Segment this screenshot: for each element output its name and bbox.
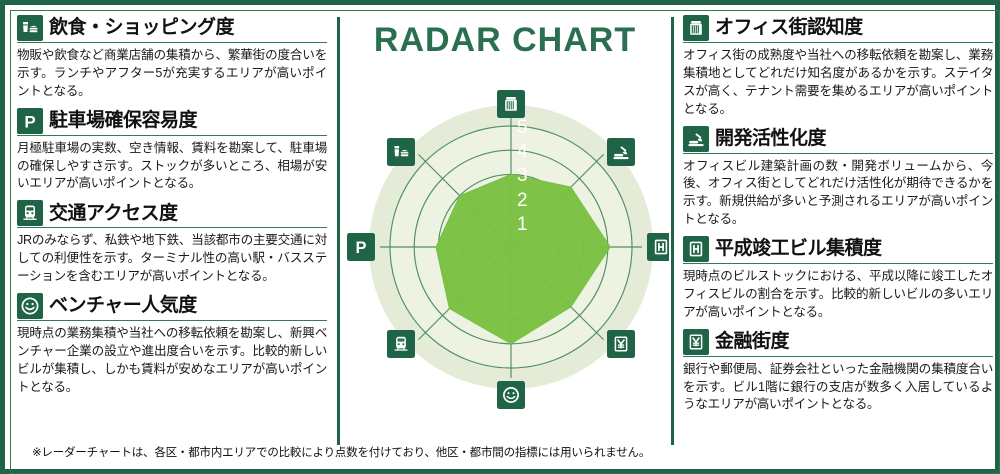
infographic-page: 飲食・ショッピング度 物販や飲食など商業店舗の集積から、繁華街の度合いを示す。ラ… bbox=[0, 0, 1000, 474]
item-body: 物販や飲食など商業店舗の集積から、繁華街の度合いを示す。ランチやアフター5が充実… bbox=[17, 47, 327, 101]
parking-icon: P bbox=[17, 108, 43, 134]
yen-icon bbox=[683, 329, 709, 355]
scale-labels: 1 2 3 4 5 bbox=[517, 117, 528, 235]
item-header: P 駐車場確保容易度 bbox=[17, 108, 327, 136]
item-financial: 金融街度 銀行や郵便局、証券会社といった金融機関の集積度合いを示す。ビル1階に銀… bbox=[683, 329, 993, 415]
left-column: 飲食・ショッピング度 物販や飲食など商業店舗の集積から、繁華街の度合いを示す。ラ… bbox=[17, 15, 327, 447]
item-title: 開発活性化度 bbox=[715, 128, 826, 149]
item-development: 開発活性化度 オフィスビル建築計画の数・開発ボリュームから、今後、オフィス街とし… bbox=[683, 126, 993, 230]
item-body: 銀行や郵便局、証券会社といった金融機関の集積度合いを示す。ビル1階に銀行の支店が… bbox=[683, 361, 993, 415]
item-body: オフィスビル建築計画の数・開発ボリュームから、今後、オフィス街としてどれだけ活性… bbox=[683, 158, 993, 230]
item-title: 平成竣工ビル集積度 bbox=[715, 238, 882, 259]
axis-icon-food-shopping-icon bbox=[387, 138, 415, 166]
scale-label-2: 2 bbox=[517, 190, 528, 211]
item-body: オフィス街の成熟度や当社への移転依頼を勘案し、業務集積地としてどれだけ知名度があ… bbox=[683, 47, 993, 119]
food-shopping-icon bbox=[17, 15, 43, 41]
train-icon bbox=[17, 200, 43, 226]
item-venture: ベンチャー人気度 現時点の業務集積や当社への移転依頼を勘案し、新興ベンチャー企業… bbox=[17, 293, 327, 397]
item-office-recognition: オフィス街認知度 オフィス街の成熟度や当社への移転依頼を勘案し、業務集積地として… bbox=[683, 15, 993, 119]
axis-icon-parking-icon bbox=[347, 233, 375, 261]
item-header: 交通アクセス度 bbox=[17, 200, 327, 228]
item-title: オフィス街認知度 bbox=[715, 17, 863, 38]
axis-icon-excavator-icon bbox=[607, 138, 635, 166]
item-header: 飲食・ショッピング度 bbox=[17, 15, 327, 43]
axis-icon-heisei-building-icon bbox=[647, 233, 669, 261]
item-food-shopping: 飲食・ショッピング度 物販や飲食など商業店舗の集積から、繁華街の度合いを示す。ラ… bbox=[17, 15, 327, 101]
smiley-icon bbox=[17, 293, 43, 319]
footnote: ※レーダーチャートは、各区・都市内エリアでの比較により点数を付けており、他区・都… bbox=[10, 440, 1000, 464]
axis-icon-smiley-icon bbox=[497, 381, 525, 409]
item-body: JRのみならず、私鉄や地下鉄、当該都市の主要交通に対しての利便性を示す。ターミナ… bbox=[17, 232, 327, 286]
scale-label-5: 5 bbox=[517, 117, 528, 138]
item-header: 開発活性化度 bbox=[683, 126, 993, 154]
scale-label-1: 1 bbox=[517, 214, 528, 235]
heisei-building-icon bbox=[683, 236, 709, 262]
item-title: 交通アクセス度 bbox=[49, 203, 178, 224]
axis-icon-train-icon bbox=[387, 330, 415, 358]
item-body: 月極駐車場の実数、空き情報、賃料を勘案して、駐車場の確保しやすさ示す。ストックが… bbox=[17, 140, 327, 194]
excavator-icon bbox=[683, 126, 709, 152]
axis-icon-yen-icon bbox=[607, 330, 635, 358]
item-title: 金融街度 bbox=[715, 331, 789, 352]
chart-title: RADAR CHART bbox=[341, 23, 669, 57]
item-title: ベンチャー人気度 bbox=[49, 295, 197, 316]
item-transit: 交通アクセス度 JRのみならず、私鉄や地下鉄、当該都市の主要交通に対しての利便性… bbox=[17, 200, 327, 286]
right-column: オフィス街認知度 オフィス街の成熟度や当社への移転依頼を勘案し、業務集積地として… bbox=[683, 15, 993, 447]
axis-icon-office-building-icon bbox=[497, 90, 525, 118]
item-parking: P 駐車場確保容易度 月極駐車場の実数、空き情報、賃料を勘案して、駐車場の確保し… bbox=[17, 108, 327, 194]
item-heisei-buildings: 平成竣工ビル集積度 現時点のビルストックにおける、平成以降に竣工したオフィスビル… bbox=[683, 236, 993, 322]
divider-right bbox=[671, 17, 674, 445]
item-header: ベンチャー人気度 bbox=[17, 293, 327, 321]
item-body: 現時点の業務集積や当社への移転依頼を勘案し、新興ベンチャー企業の設立や進出度合い… bbox=[17, 325, 327, 397]
item-header: 金融街度 bbox=[683, 329, 993, 357]
item-header: 平成竣工ビル集積度 bbox=[683, 236, 993, 264]
office-building-icon bbox=[683, 15, 709, 41]
item-title: 駐車場確保容易度 bbox=[49, 110, 197, 131]
radar-svg: P bbox=[341, 65, 669, 425]
svg-text:P: P bbox=[24, 112, 35, 131]
scale-label-3: 3 bbox=[517, 165, 528, 186]
divider-left bbox=[337, 17, 340, 445]
radar-chart: P bbox=[341, 65, 669, 425]
chart-panel: RADAR CHART bbox=[341, 15, 669, 445]
item-body: 現時点のビルストックにおける、平成以降に竣工したオフィスビルの割合を示す。比較的… bbox=[683, 268, 993, 322]
item-title: 飲食・ショッピング度 bbox=[49, 17, 234, 38]
item-header: オフィス街認知度 bbox=[683, 15, 993, 43]
scale-label-4: 4 bbox=[517, 141, 528, 162]
